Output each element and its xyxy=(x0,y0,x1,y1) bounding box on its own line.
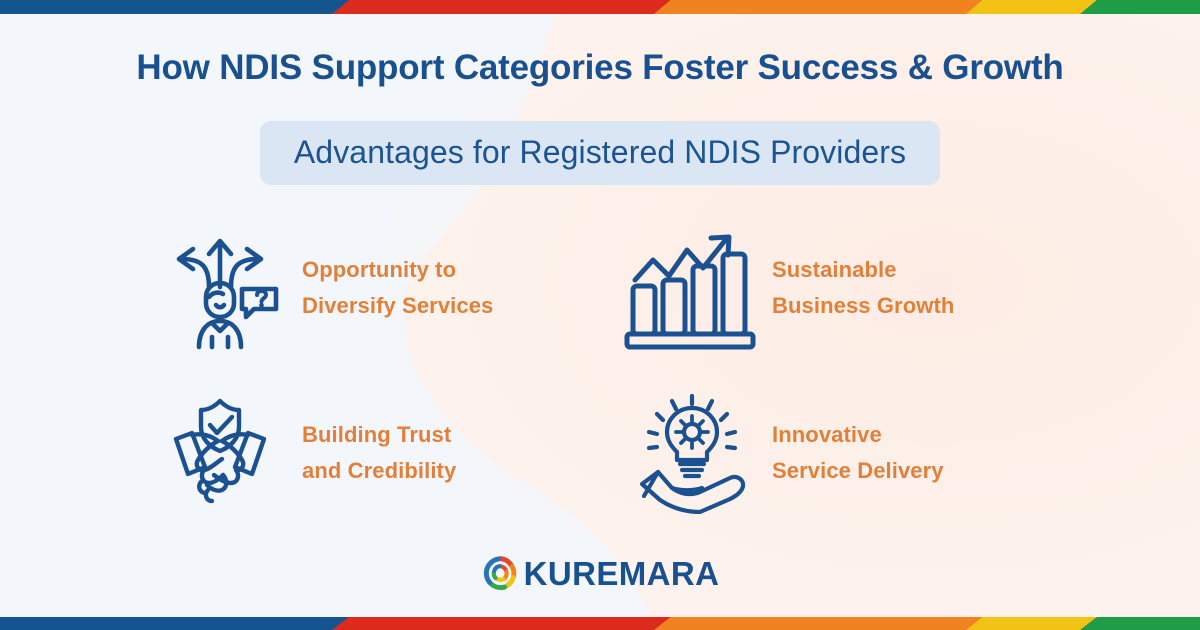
feature-label-line2: Diversify Services xyxy=(302,288,493,324)
feature-label-line1: Innovative xyxy=(772,422,882,447)
top-accent-bar xyxy=(0,0,1200,14)
kuremara-swirl-icon xyxy=(481,554,519,592)
infographic-canvas: How NDIS Support Categories Foster Succe… xyxy=(0,0,1200,630)
bar-chart-growth-arrow-icon xyxy=(620,223,760,353)
feature-label: Building Trust and Credibility xyxy=(302,417,456,489)
accent-segment-blue xyxy=(0,617,350,630)
accent-segment-blue xyxy=(0,0,350,14)
subtitle-banner: Advantages for Registered NDIS Providers xyxy=(0,121,1200,185)
brand-name: KUREMARA xyxy=(524,557,720,590)
feature-label-line2: and Credibility xyxy=(302,453,456,489)
accent-segment-green xyxy=(1080,0,1200,14)
feature-label: Innovative Service Delivery xyxy=(772,417,944,489)
handshake-shield-check-icon xyxy=(150,388,290,518)
subtitle-label: Advantages for Registered NDIS Providers xyxy=(260,121,940,185)
feature-label-line2: Business Growth xyxy=(772,288,954,324)
brand-logo: KUREMARA xyxy=(0,554,1200,592)
feature-label: Sustainable Business Growth xyxy=(772,252,954,324)
accent-segment-red xyxy=(332,617,672,630)
feature-item-growth: Sustainable Business Growth xyxy=(620,205,1090,370)
feature-grid: Opportunity to Diversify Services xyxy=(150,205,1090,535)
accent-segment-orange xyxy=(654,0,984,14)
feature-label-line2: Service Delivery xyxy=(772,453,944,489)
accent-segment-red xyxy=(332,0,672,14)
feature-item-trust: Building Trust and Credibility xyxy=(150,370,620,535)
feature-item-diversify: Opportunity to Diversify Services xyxy=(150,205,620,370)
feature-label-line1: Opportunity to xyxy=(302,257,456,282)
feature-label-line1: Building Trust xyxy=(302,422,451,447)
feature-label: Opportunity to Diversify Services xyxy=(302,252,493,324)
feature-label-line1: Sustainable xyxy=(772,257,897,282)
hand-lightbulb-gear-icon xyxy=(620,388,760,518)
person-crossroads-arrows-question-icon xyxy=(150,223,290,353)
accent-segment-green xyxy=(1080,617,1200,630)
accent-segment-orange xyxy=(654,617,984,630)
bottom-accent-bar xyxy=(0,617,1200,630)
page-title: How NDIS Support Categories Foster Succe… xyxy=(0,47,1200,89)
feature-item-innovation: Innovative Service Delivery xyxy=(620,370,1090,535)
